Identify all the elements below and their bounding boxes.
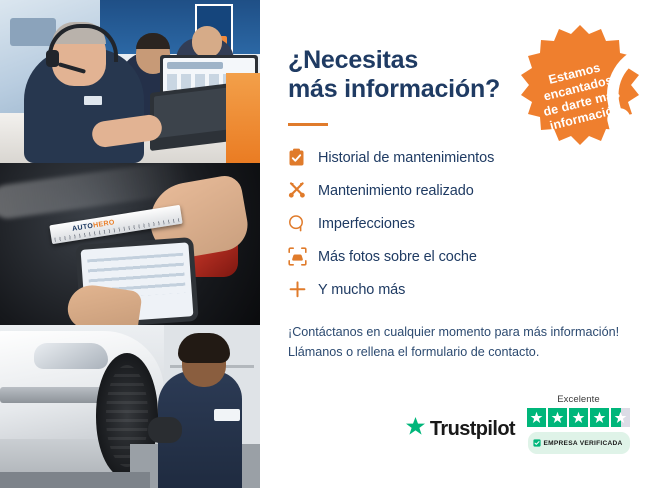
title-divider (288, 123, 328, 126)
trustpilot-score-block: Excelente EMPRESA VERIFICADA (527, 394, 630, 454)
ruler-brand-text: AUTOHERO (72, 219, 116, 233)
wheel-service-photo (0, 325, 260, 488)
list-item-label: Historial de mantenimientos (318, 150, 494, 166)
contact-line-1: ¡Contáctanos en cualquier momento para m… (288, 325, 619, 339)
clipboard-check-icon (288, 148, 318, 167)
contact-line-2: Llámanos o rellena el formulario de cont… (288, 345, 539, 359)
feature-list: Historial de mantenimientos Mantenimient… (288, 142, 624, 306)
contact-text: ¡Contáctanos en cualquier momento para m… (288, 322, 624, 363)
orange-rack-decor (226, 73, 260, 163)
name-badge-decor (84, 96, 102, 105)
mechanic-hair-decor (178, 333, 230, 363)
trustpilot-logo[interactable]: Trustpilot (405, 416, 515, 454)
star-filled-3 (569, 408, 588, 427)
star-filled-1 (527, 408, 546, 427)
promo-badge: Estamos encantados de darte más informac… (516, 22, 644, 150)
list-item-label: Imperfecciones (318, 216, 415, 232)
headline-line-1: ¿Necesitas (288, 46, 418, 74)
headline-line-2: más información? (288, 75, 500, 103)
trustpilot-wordmark: Trustpilot (430, 418, 515, 441)
content-panel: ¿Necesitas más información? Historial de… (260, 0, 650, 488)
list-item: Y mucho más (288, 274, 624, 306)
check-box-icon (533, 434, 541, 452)
car-lift-decor (0, 472, 150, 488)
list-item-label: Mantenimiento realizado (318, 183, 474, 199)
car-inspection-photo: AUTOHERO (0, 163, 260, 325)
star-rating (527, 408, 630, 427)
page-title: ¿Necesitas más información? (288, 46, 518, 105)
call-center-photo (0, 0, 260, 163)
list-item-label: Más fotos sobre el coche (318, 249, 477, 265)
information-banner: AUTOHERO ¿Necesitas más inf (0, 0, 650, 488)
magnifier-icon (288, 214, 318, 233)
star-filled-4 (590, 408, 609, 427)
mechanic-logo-decor (214, 409, 240, 421)
ruler-brand-part1: AUTO (72, 223, 94, 233)
tools-icon (288, 181, 318, 200)
ruler-brand-part2: HERO (93, 219, 116, 229)
plus-icon (288, 280, 318, 299)
headset-earcup-decor (46, 50, 59, 67)
star-half-5 (611, 408, 630, 427)
laptop-decor (150, 83, 232, 151)
person-background-head-decor (192, 26, 222, 58)
status-badge: EMPRESA VERIFICADA (528, 432, 630, 454)
trustpilot-rating[interactable]: Trustpilot Excelente (405, 394, 630, 454)
list-item: Mantenimiento realizado (288, 175, 624, 207)
star-filled-2 (548, 408, 567, 427)
verified-label: EMPRESA VERIFICADA (544, 440, 623, 447)
list-item: Imperfecciones (288, 208, 624, 240)
trustpilot-rating-label: Excelente (557, 394, 600, 405)
grille-decor (0, 387, 112, 403)
car-scan-icon (288, 247, 318, 266)
mechanic-glove-decor (148, 417, 182, 443)
list-item-label: Y mucho más (318, 282, 405, 298)
list-item: Más fotos sobre el coche (288, 241, 624, 273)
headlight-decor (34, 343, 108, 369)
photo-column: AUTOHERO (0, 0, 260, 488)
trustpilot-star-icon (405, 416, 426, 442)
